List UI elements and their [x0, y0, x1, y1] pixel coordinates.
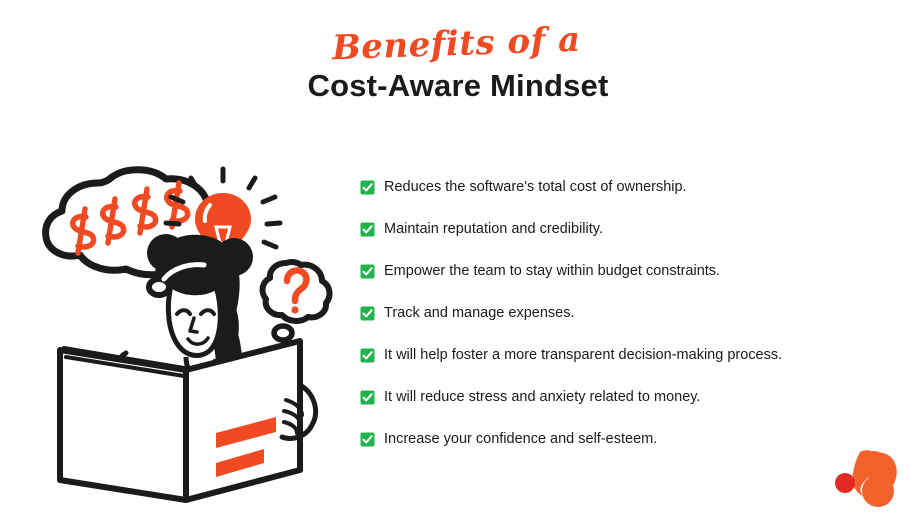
green-check-box-icon	[360, 432, 375, 447]
green-check-box-icon	[360, 306, 375, 321]
brand-logo	[832, 445, 900, 511]
list-item-label: It will reduce stress and anxiety relate…	[384, 388, 700, 407]
list-item: Empower the team to stay within budget c…	[360, 262, 890, 304]
list-item: Track and manage expenses.	[360, 304, 890, 346]
question-mark-bubble-icon	[263, 262, 330, 340]
list-item-label: Empower the team to stay within budget c…	[384, 262, 720, 281]
green-check-box-icon	[360, 264, 375, 279]
green-check-box-icon	[360, 222, 375, 237]
page-header: Benefits of a Cost-Aware Mindset	[0, 22, 916, 104]
list-item-label: Maintain reputation and credibility.	[384, 220, 603, 239]
list-item-label: Reduces the software's total cost of own…	[384, 178, 687, 197]
slide-canvas: Benefits of a Cost-Aware Mindset	[0, 0, 916, 525]
green-check-box-icon	[360, 180, 375, 195]
list-item: Reduces the software's total cost of own…	[360, 178, 890, 220]
green-check-box-icon	[360, 390, 375, 405]
list-item-label: Increase your confidence and self-esteem…	[384, 430, 657, 449]
page-title: Cost-Aware Mindset	[0, 68, 916, 104]
benefits-list: Reduces the software's total cost of own…	[360, 178, 890, 472]
list-item: Maintain reputation and credibility.	[360, 220, 890, 262]
list-item: Increase your confidence and self-esteem…	[360, 430, 890, 472]
header-script-line: Benefits of a	[331, 18, 581, 71]
list-item: It will reduce stress and anxiety relate…	[360, 388, 890, 430]
green-check-box-icon	[360, 348, 375, 363]
list-item-label: Track and manage expenses.	[384, 304, 575, 323]
list-item: It will help foster a more transparent d…	[360, 346, 890, 388]
list-item-label: It will help foster a more transparent d…	[384, 346, 782, 365]
illustration	[38, 145, 338, 505]
